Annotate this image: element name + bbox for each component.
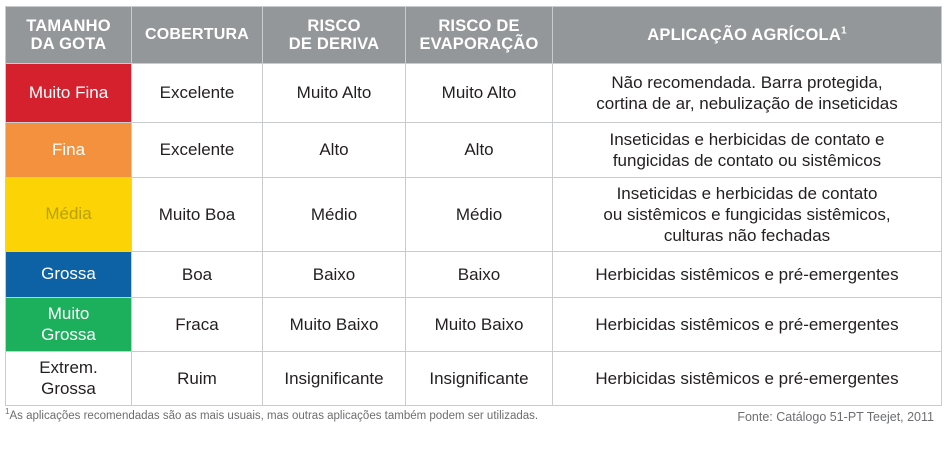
risco-evaporacao-cell: Insignificante <box>406 352 553 406</box>
size-label-line-1: Muito <box>48 304 90 323</box>
aplicacao-agricola-cell: Inseticidas e herbicidas de contato ou s… <box>553 178 942 252</box>
risco-deriva-cell: Alto <box>263 123 406 178</box>
droplet-size-cell-muito-grossa: Muito Grossa <box>6 298 132 352</box>
table-row: Extrem. Grossa Ruim Insignificante Insig… <box>6 352 942 406</box>
header-row: TAMANHO DA GOTA COBERTURA RISCO DE DERIV… <box>6 7 942 64</box>
risco-evaporacao-cell: Alto <box>406 123 553 178</box>
header-line-2: EVAPORAÇÃO <box>419 35 538 53</box>
column-header-tamanho-da-gota: TAMANHO DA GOTA <box>6 7 132 64</box>
footnote-text: 1As aplicações recomendadas são as mais … <box>5 410 538 424</box>
cobertura-cell: Excelente <box>132 123 263 178</box>
footnote-marker: 1 <box>841 25 847 36</box>
aplicacao-agricola-cell: Herbicidas sistêmicos e pré-emergentes <box>553 352 942 406</box>
droplet-size-cell-grossa: Grossa <box>6 252 132 298</box>
droplet-size-reference-table: TAMANHO DA GOTA COBERTURA RISCO DE DERIV… <box>0 6 945 450</box>
table-row: Muito Grossa Fraca Muito Baixo Muito Bai… <box>6 298 942 352</box>
column-header-aplicacao-agricola: APLICAÇÃO AGRÍCOLA1 <box>553 7 942 64</box>
size-label-line-1: Fina <box>52 140 85 159</box>
cobertura-cell: Fraca <box>132 298 263 352</box>
aplicacao-line-1: Herbicidas sistêmicos e pré-emergentes <box>595 315 898 334</box>
size-label-line-2: Grossa <box>41 325 96 344</box>
aplicacao-line-1: Inseticidas e herbicidas de contato <box>617 184 878 203</box>
aplicacao-agricola-cell: Herbicidas sistêmicos e pré-emergentes <box>553 298 942 352</box>
risco-deriva-cell: Muito Baixo <box>263 298 406 352</box>
header-line-1: TAMANHO <box>26 17 111 35</box>
table-row: Fina Excelente Alto Alto Inseticidas e h… <box>6 123 942 178</box>
size-label-line-1: Extrem. <box>39 358 98 377</box>
risco-deriva-cell: Muito Alto <box>263 64 406 123</box>
aplicacao-agricola-cell: Inseticidas e herbicidas de contato e fu… <box>553 123 942 178</box>
size-label-line-1: Muito Fina <box>29 83 108 102</box>
column-header-cobertura: COBERTURA <box>132 7 263 64</box>
size-label-line-1: Média <box>45 204 91 223</box>
size-label-line-1: Grossa <box>41 264 96 283</box>
cobertura-cell: Boa <box>132 252 263 298</box>
aplicacao-agricola-cell: Herbicidas sistêmicos e pré-emergentes <box>553 252 942 298</box>
source-credit: Fonte: Catálogo 51-PT Teejet, 2011 <box>737 410 940 424</box>
table-row: Muito Fina Excelente Muito Alto Muito Al… <box>6 64 942 123</box>
risco-evaporacao-cell: Muito Baixo <box>406 298 553 352</box>
droplet-size-cell-extrem-grossa: Extrem. Grossa <box>6 352 132 406</box>
header-line-1: RISCO DE <box>438 17 519 35</box>
aplicacao-agricola-cell: Não recomendada. Barra protegida, cortin… <box>553 64 942 123</box>
risco-deriva-cell: Baixo <box>263 252 406 298</box>
risco-deriva-cell: Médio <box>263 178 406 252</box>
aplicacao-line-2: ou sistêmicos e fungicidas sistêmicos, <box>603 205 890 224</box>
cobertura-cell: Excelente <box>132 64 263 123</box>
aplicacao-line-2: fungicidas de contato ou sistêmicos <box>613 151 881 170</box>
cobertura-cell: Ruim <box>132 352 263 406</box>
table-body: Muito Fina Excelente Muito Alto Muito Al… <box>6 64 942 406</box>
aplicacao-line-1: Herbicidas sistêmicos e pré-emergentes <box>595 369 898 388</box>
header-line-2: DE DERIVA <box>289 35 379 53</box>
aplicacao-line-1: Inseticidas e herbicidas de contato e <box>609 130 884 149</box>
cobertura-cell: Muito Boa <box>132 178 263 252</box>
risco-evaporacao-cell: Baixo <box>406 252 553 298</box>
header-line-1: COBERTURA <box>145 26 249 43</box>
size-label-line-2: Grossa <box>41 379 96 398</box>
aplicacao-line-2: cortina de ar, nebulização de inseticida… <box>596 94 897 113</box>
column-header-risco-de-evaporacao: RISCO DE EVAPORAÇÃO <box>406 7 553 64</box>
aplicacao-line-1: Não recomendada. Barra protegida, <box>611 73 882 92</box>
table-row: Média Muito Boa Médio Médio Inseticidas … <box>6 178 942 252</box>
table-footer: 1As aplicações recomendadas são as mais … <box>5 410 940 440</box>
footnote-body: As aplicações recomendadas são as mais u… <box>9 410 538 422</box>
droplet-size-cell-muito-fina: Muito Fina <box>6 64 132 123</box>
column-header-risco-de-deriva: RISCO DE DERIVA <box>263 7 406 64</box>
table-header: TAMANHO DA GOTA COBERTURA RISCO DE DERIV… <box>6 7 942 64</box>
risco-evaporacao-cell: Médio <box>406 178 553 252</box>
droplet-size-cell-media: Média <box>6 178 132 252</box>
risco-evaporacao-cell: Muito Alto <box>406 64 553 123</box>
aplicacao-line-3: culturas não fechadas <box>664 226 830 245</box>
risco-deriva-cell: Insignificante <box>263 352 406 406</box>
header-line-2: DA GOTA <box>31 35 107 53</box>
aplicacao-line-1: Herbicidas sistêmicos e pré-emergentes <box>595 265 898 284</box>
droplet-classification-table: TAMANHO DA GOTA COBERTURA RISCO DE DERIV… <box>5 6 942 406</box>
header-line-1: APLICAÇÃO AGRÍCOLA <box>647 26 841 44</box>
table-row: Grossa Boa Baixo Baixo Herbicidas sistêm… <box>6 252 942 298</box>
header-line-1: RISCO <box>307 17 360 35</box>
droplet-size-cell-fina: Fina <box>6 123 132 178</box>
